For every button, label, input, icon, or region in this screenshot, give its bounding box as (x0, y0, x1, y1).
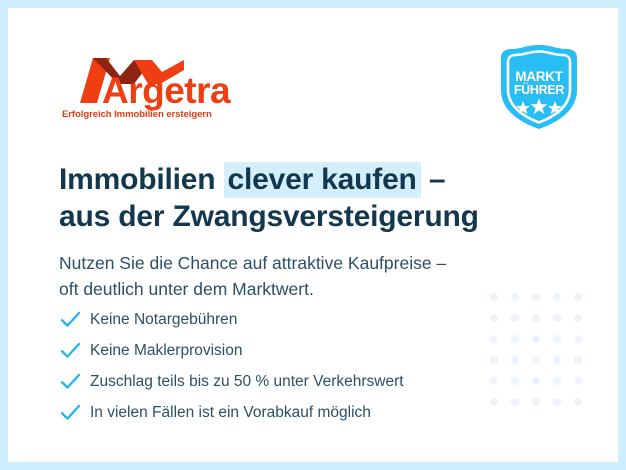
decorative-dot (574, 293, 582, 301)
badge-line2-text: FÜHRER (514, 82, 565, 97)
headline-line1-before: Immobilien (59, 163, 224, 196)
list-item: Keine Notargebühren (60, 304, 540, 335)
argetra-logo: Argetra Erfolgreich Immobilien ersteiger… (60, 50, 260, 122)
headline: Immobilien clever kaufen – aus der Zwang… (59, 162, 579, 236)
logo-tagline-text: Erfolgreich Immobilien ersteigern (62, 109, 212, 120)
list-item: Keine Maklerprovision (60, 335, 540, 366)
benefit-label: Keine Maklerprovision (90, 343, 243, 359)
list-item: In vielen Fällen ist ein Vorabkauf mögli… (60, 397, 540, 428)
benefit-label: In vielen Fällen ist ein Vorabkauf mögli… (90, 405, 371, 421)
banner-card: Argetra Erfolgreich Immobilien ersteiger… (8, 8, 618, 462)
check-icon (60, 342, 90, 359)
check-icon (60, 373, 90, 390)
check-icon (60, 404, 90, 421)
marktfuehrer-badge: MARKT FÜHRER (497, 44, 581, 130)
promo-banner: Argetra Erfolgreich Immobilien ersteiger… (0, 0, 626, 470)
benefits-list: Keine Notargebühren Keine Maklerprovisio… (60, 304, 540, 428)
headline-line1-after: – (421, 163, 446, 196)
decorative-dot (553, 335, 561, 343)
decorative-dot (574, 377, 582, 385)
headline-line2: aus der Zwangsversteigerung (59, 200, 479, 233)
list-item: Zuschlag teils bis zu 50 % unter Verkehr… (60, 366, 540, 397)
headline-highlight: clever kaufen (224, 162, 421, 198)
decorative-dot (574, 335, 582, 343)
decorative-dot (553, 314, 561, 322)
subheadline-line1: Nutzen Sie die Chance auf attraktive Kau… (59, 250, 559, 277)
benefit-label: Zuschlag teils bis zu 50 % unter Verkehr… (90, 374, 404, 390)
decorative-dot (574, 398, 582, 406)
decorative-dot (574, 356, 582, 364)
benefit-label: Keine Notargebühren (90, 312, 237, 328)
badge-line1-text: MARKT (515, 69, 563, 84)
decorative-dot (553, 398, 561, 406)
subheadline-line2: oft deutlich unter dem Marktwert. (59, 276, 559, 303)
decorative-dot (553, 377, 561, 385)
decorative-dot (553, 356, 561, 364)
subheadline: Nutzen Sie die Chance auf attraktive Kau… (59, 250, 559, 303)
decorative-dot (574, 314, 582, 322)
logo-wordmark-text: Argetra (102, 70, 231, 111)
check-icon (60, 311, 90, 328)
